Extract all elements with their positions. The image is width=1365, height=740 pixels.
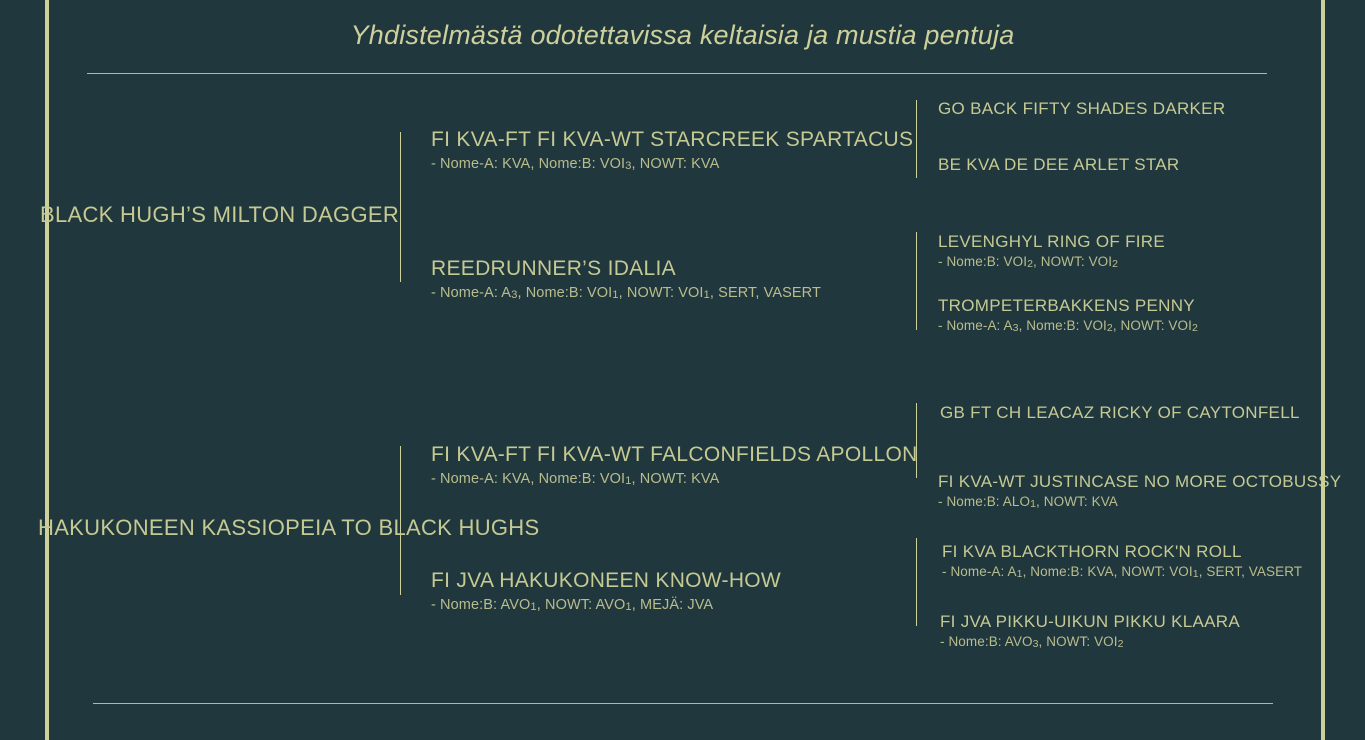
pedigree-node-ggp-2-2-2: FI JVA PIKKU-UIKUN PIKKU KLAARA - Nome:B…	[940, 612, 1240, 649]
pedigree-node-details: - Nome-A: KVA, Nome:B: VOI1, NOWT: KVA	[431, 471, 918, 487]
pedigree-node-name: FI KVA BLACKTHORN ROCK'N ROLL	[942, 542, 1302, 562]
pedigree-node-name: REEDRUNNER’S IDALIA	[431, 257, 821, 281]
left-accent-bar	[45, 0, 49, 740]
bracket-parent-1	[400, 132, 401, 282]
top-divider	[87, 73, 1267, 74]
pedigree-node-name: FI KVA-FT FI KVA-WT STARCREEK SPARTACUS	[431, 128, 913, 152]
pedigree-node-name: FI KVA-WT JUSTINCASE NO MORE OCTOBUSSY	[938, 472, 1341, 492]
pedigree-node-details: - Nome-A: KVA, Nome:B: VOI3, NOWT: KVA	[431, 156, 913, 172]
pedigree-node-name: GO BACK FIFTY SHADES DARKER	[938, 99, 1225, 119]
pedigree-node-details: - Nome:B: VOI2, NOWT: VOI2	[938, 254, 1165, 269]
pedigree-node-details: - Nome-A: A1, Nome:B: KVA, NOWT: VOI1, S…	[942, 564, 1302, 579]
pedigree-node-details: - Nome-A: A3, Nome:B: VOI1, NOWT: VOI1, …	[431, 285, 821, 301]
pedigree-node-ggp-1-2-1: LEVENGHYL RING OF FIRE - Nome:B: VOI2, N…	[938, 232, 1165, 269]
pedigree-node-details: - Nome:B: AVO3, NOWT: VOI2	[940, 634, 1240, 649]
bottom-divider	[93, 703, 1273, 704]
pedigree-node-ggp-2-1-2: FI KVA-WT JUSTINCASE NO MORE OCTOBUSSY -…	[938, 472, 1341, 509]
pedigree-node-name: FI JVA HAKUKONEEN KNOW-HOW	[431, 569, 781, 593]
page-title: Yhdistelmästä odotettavissa keltaisia ja…	[0, 20, 1365, 51]
bracket-gp-1-1	[916, 100, 917, 178]
pedigree-node-details: - Nome:B: AVO1, NOWT: AVO1, MEJÄ: JVA	[431, 597, 781, 613]
pedigree-node-name: FI JVA PIKKU-UIKUN PIKKU KLAARA	[940, 612, 1240, 632]
pedigree-node-gp-2-2: FI JVA HAKUKONEEN KNOW-HOW - Nome:B: AVO…	[431, 569, 781, 613]
pedigree-node-gp-1-1: FI KVA-FT FI KVA-WT STARCREEK SPARTACUS …	[431, 128, 913, 172]
pedigree-node-name: TROMPETERBAKKENS PENNY	[938, 296, 1198, 316]
bracket-gp-2-1	[916, 403, 917, 478]
pedigree-node-parent-2: HAKUKONEEN KASSIOPEIA TO BLACK HUGHS	[38, 515, 539, 541]
pedigree-node-name: LEVENGHYL RING OF FIRE	[938, 232, 1165, 252]
pedigree-node-ggp-1-1-2: BE KVA DE DEE ARLET STAR	[938, 155, 1180, 177]
bracket-gp-2-2	[916, 538, 917, 626]
pedigree-node-gp-1-2: REEDRUNNER’S IDALIA - Nome-A: A3, Nome:B…	[431, 257, 821, 301]
pedigree-node-details: - Nome:B: ALO1, NOWT: KVA	[938, 494, 1341, 509]
pedigree-node-gp-2-1: FI KVA-FT FI KVA-WT FALCONFIELDS APOLLON…	[431, 443, 918, 487]
pedigree-node-ggp-2-2-1: FI KVA BLACKTHORN ROCK'N ROLL - Nome-A: …	[942, 542, 1302, 579]
pedigree-node-name: HAKUKONEEN KASSIOPEIA TO BLACK HUGHS	[38, 515, 539, 541]
pedigree-node-name: GB FT CH LEACAZ RICKY OF CAYTONFELL	[940, 403, 1300, 423]
pedigree-node-details: - Nome-A: A3, Nome:B: VOI2, NOWT: VOI2	[938, 318, 1198, 333]
pedigree-node-ggp-1-2-2: TROMPETERBAKKENS PENNY - Nome-A: A3, Nom…	[938, 296, 1198, 333]
pedigree-node-name: FI KVA-FT FI KVA-WT FALCONFIELDS APOLLON	[431, 443, 918, 467]
pedigree-node-ggp-1-1-1: GO BACK FIFTY SHADES DARKER	[938, 99, 1225, 121]
right-accent-bar	[1321, 0, 1325, 740]
pedigree-node-ggp-2-1-1: GB FT CH LEACAZ RICKY OF CAYTONFELL	[940, 403, 1300, 425]
pedigree-node-name: BLACK HUGH’S MILTON DAGGER	[40, 202, 399, 228]
pedigree-node-name: BE KVA DE DEE ARLET STAR	[938, 155, 1180, 175]
pedigree-slide: Yhdistelmästä odotettavissa keltaisia ja…	[0, 0, 1365, 740]
pedigree-node-parent-1: BLACK HUGH’S MILTON DAGGER	[40, 202, 399, 228]
bracket-gp-1-2	[916, 232, 917, 330]
